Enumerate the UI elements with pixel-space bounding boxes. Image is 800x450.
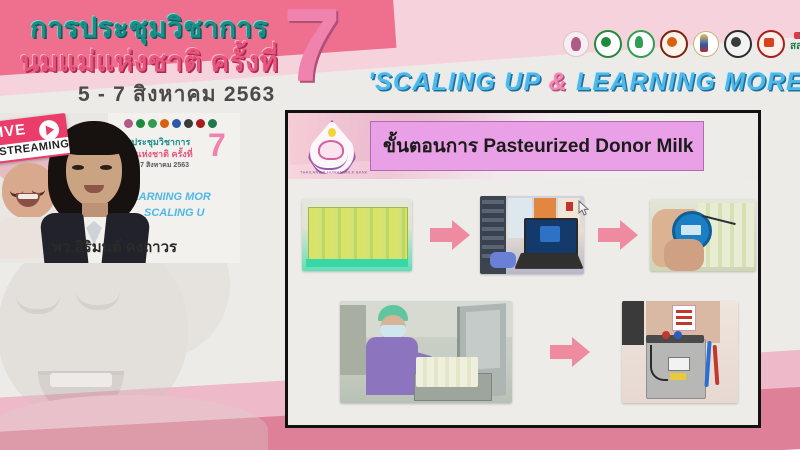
thaihealth-sss-logo: [790, 33, 800, 55]
watermark-eye-left: [16, 295, 60, 314]
probe-scene-hand-lower: [664, 239, 704, 271]
royal-standard-logo: [693, 31, 719, 57]
edition-number: 7: [283, 0, 341, 98]
inset-logo-4: [160, 119, 169, 128]
laptop-keyboard: [514, 253, 583, 269]
mouse-cursor-icon: [578, 200, 590, 217]
inset-logo-6: [184, 119, 193, 128]
live-badge-label: LIVE: [0, 121, 27, 142]
workflow-row-1: [302, 195, 750, 275]
public-health-ministry-logo: [627, 30, 655, 58]
tagline-suffix: LEARNING MORE': [568, 68, 800, 96]
bottle-rack: [308, 207, 408, 263]
workflow-row-2: [340, 299, 750, 404]
pasteurizer-control-panel: [668, 357, 690, 371]
child-teeth: [18, 194, 38, 199]
photo-laptop-workstation: [480, 196, 584, 274]
pasteurizer-power-cord: [650, 345, 668, 381]
black-garuda-logo: [724, 30, 752, 58]
inset-tagline-line2: SCALING U: [144, 207, 205, 219]
watermark-body: [0, 395, 268, 450]
laptop-screen: [524, 218, 578, 256]
photo-pasteurizer-machine: [622, 301, 738, 403]
presentation-slide[interactable]: THAILAND'S HUMAN MILK BANK ขั้นตอนการ Pa…: [285, 110, 761, 428]
arrow-right-3-icon: [550, 336, 594, 368]
photo-nurse-loading-bottles: [340, 301, 512, 403]
slide-title-banner: ขั้นตอนการ Pasteurized Donor Milk: [370, 121, 704, 171]
pasteurizer-label: [670, 373, 686, 380]
pasteurizer-knob-red: [662, 331, 670, 339]
inset-logo-7: [196, 119, 205, 128]
pasteurizer-scene-dark-panel: [622, 301, 644, 345]
poster-header: 7 การประชุมวิชาการ นมแม่แห่งชาติ ครั้งที…: [0, 0, 800, 108]
logo-caption: THAILAND'S HUMAN MILK BANK: [300, 170, 368, 174]
sponsor-logo-strip: [563, 27, 795, 61]
inset-edition-number: 7: [208, 129, 226, 161]
human-milk-bank-drop-logo: THAILAND'S HUMAN MILK BANK: [300, 118, 358, 178]
inset-logo-5: [172, 119, 181, 128]
poster-tagline: 'SCALING UP & LEARNING MORE': [368, 68, 800, 97]
arrow-right-1-icon: [430, 219, 474, 251]
green-circle-org-logo: [594, 30, 622, 58]
tagline-ampersand: &: [549, 68, 568, 96]
tagline-prefix: 'SCALING UP: [368, 68, 549, 96]
screenshot-stage: 7 การประชุมวิชาการ นมแม่แห่งชาติ ครั้งที…: [0, 0, 800, 450]
speaker-eye-right: [100, 165, 112, 170]
royal-patronage-logo: [563, 31, 589, 57]
watermark-teeth: [50, 373, 112, 387]
arrow-right-2-icon: [598, 219, 642, 251]
nurse-scene-bottles: [416, 357, 478, 387]
milk-drop-highlight: [328, 128, 336, 137]
rack-base: [306, 259, 408, 267]
speaker-fringe: [60, 129, 128, 155]
poster-date: 5 - 7 สิงหาคม 2563: [78, 78, 275, 111]
streaming-label: STREAMING: [0, 138, 70, 159]
laptop-mouse-pad: [490, 252, 516, 268]
pasteurizer-hose-red: [713, 344, 720, 384]
nurse-scene-cabinet: [340, 305, 366, 375]
photo-hand-thermometer-probe: [650, 199, 756, 271]
red-shield-logo: [757, 30, 785, 58]
photo-milk-bottles-rack: [302, 199, 412, 271]
red-emblem-logo: [660, 30, 688, 58]
watermark-eye-right: [76, 291, 120, 310]
slide-title: ขั้นตอนการ Pasteurized Donor Milk: [383, 131, 693, 161]
speaker-name: พว.สิริมนต์ คงถาวร: [52, 235, 177, 259]
pasteurizer-knob-blue: [674, 331, 682, 339]
pasteurizer-scene-sign: [672, 305, 696, 331]
speaker-eye-left: [72, 165, 84, 170]
